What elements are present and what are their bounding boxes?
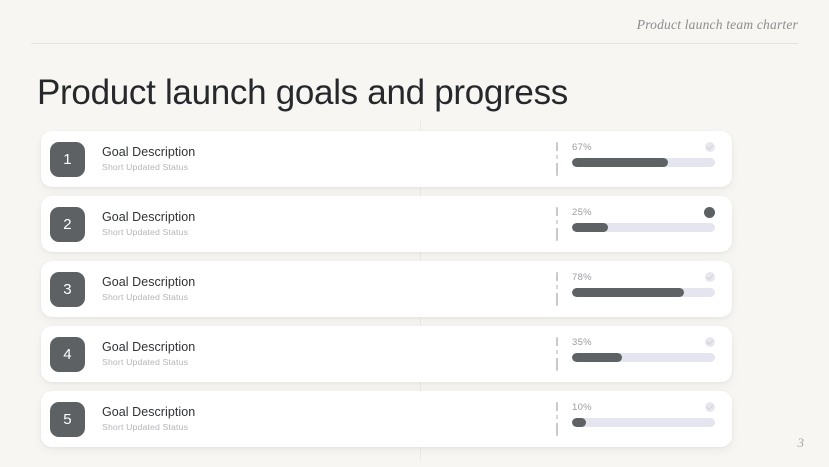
check-circle-icon[interactable] [705,272,715,282]
goal-progress-block: 78% [570,271,718,307]
progress-bar-fill [572,223,608,232]
header-label: Product launch team charter [637,17,798,33]
goal-row[interactable]: 2 Goal Description Short Updated Status … [41,196,732,252]
dot-circle-icon[interactable] [704,207,715,218]
goal-number-badge: 3 [50,272,85,307]
check-circle-icon[interactable] [705,402,715,412]
goal-title: Goal Description [102,339,556,356]
goal-subtitle: Short Updated Status [102,161,556,174]
progress-bar-fill [572,353,622,362]
goal-text-block: Goal Description Short Updated Status [102,274,556,305]
goal-list: 1 Goal Description Short Updated Status … [41,131,732,447]
goal-progress-block: 25% [570,206,718,242]
progress-bar-track [572,353,715,362]
progress-bar-track [572,418,715,427]
dashed-divider-icon [556,207,558,241]
progress-percent-label: 10% [572,402,592,413]
header-divider-rule [31,43,798,44]
progress-percent-label: 67% [572,142,592,153]
goal-title: Goal Description [102,144,556,161]
progress-bar-fill [572,158,668,167]
dashed-divider-icon [556,272,558,306]
goal-row[interactable]: 4 Goal Description Short Updated Status … [41,326,732,382]
goal-progress-block: 10% [570,401,718,437]
slide-canvas: Product launch team charter Product laun… [0,0,829,467]
goal-subtitle: Short Updated Status [102,421,556,434]
goal-row[interactable]: 3 Goal Description Short Updated Status … [41,261,732,317]
goal-subtitle: Short Updated Status [102,226,556,239]
dashed-divider-icon [556,337,558,371]
goal-title: Goal Description [102,209,556,226]
goal-subtitle: Short Updated Status [102,356,556,369]
goal-text-block: Goal Description Short Updated Status [102,144,556,175]
progress-bar-track [572,223,715,232]
goal-row[interactable]: 5 Goal Description Short Updated Status … [41,391,732,447]
goal-number-badge: 1 [50,142,85,177]
goal-title: Goal Description [102,274,556,291]
goal-text-block: Goal Description Short Updated Status [102,209,556,240]
goal-number-badge: 5 [50,402,85,437]
goal-subtitle: Short Updated Status [102,291,556,304]
dashed-divider-icon [556,142,558,176]
slide-header: Product launch team charter [31,8,798,44]
goal-progress-block: 35% [570,336,718,372]
goal-row[interactable]: 1 Goal Description Short Updated Status … [41,131,732,187]
goal-text-block: Goal Description Short Updated Status [102,404,556,435]
progress-percent-label: 78% [572,272,592,283]
goal-title: Goal Description [102,404,556,421]
dashed-divider-icon [556,402,558,436]
progress-bar-fill [572,288,684,297]
check-circle-icon[interactable] [705,337,715,347]
progress-percent-label: 25% [572,207,592,218]
progress-bar-track [572,158,715,167]
page-title: Product launch goals and progress [37,74,568,113]
goal-progress-block: 67% [570,141,718,177]
progress-bar-fill [572,418,586,427]
page-number: 3 [798,435,805,451]
goal-number-badge: 4 [50,337,85,372]
check-circle-icon[interactable] [705,142,715,152]
goal-text-block: Goal Description Short Updated Status [102,339,556,370]
progress-percent-label: 35% [572,337,592,348]
goal-number-badge: 2 [50,207,85,242]
progress-bar-track [572,288,715,297]
